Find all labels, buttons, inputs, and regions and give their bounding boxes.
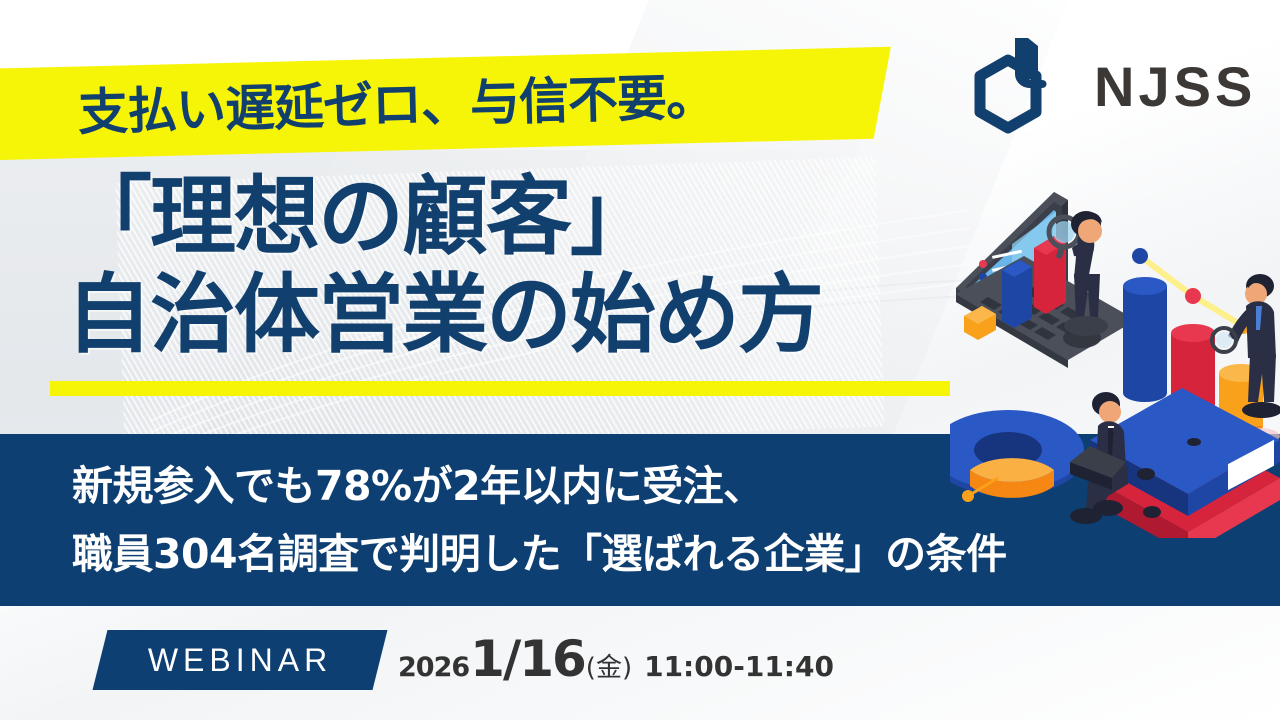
headline-underline-bar (50, 381, 950, 396)
subhead: 新規参入でも78%が2年以内に受注、 職員304名調査で判明した「選ばれる企業」… (72, 452, 1007, 588)
event-day: 1/16 (470, 630, 585, 688)
event-datetime: 2026 1/16 (金) 11:00-11:40 (398, 630, 834, 690)
subhead-line-1: 新規参入でも78%が2年以内に受注、 (72, 452, 1007, 520)
event-year: 2026 (398, 652, 469, 683)
webinar-badge-label: WEBINAR (100, 630, 380, 690)
subhead-line-2: 職員304名調査で判明した「選ばれる企業」の条件 (72, 520, 1007, 588)
njss-logo: NJSS (968, 30, 1256, 142)
eyebrow-text: 支払い遅延ゼロ、与信不要。 (77, 58, 716, 152)
headline-line-1: 「理想の顧客」 (66, 168, 822, 266)
headline: 「理想の顧客」 自治体営業の始め方 (66, 168, 822, 364)
event-time: 11:00-11:40 (644, 650, 834, 683)
njss-hexagon-search-mark (968, 30, 1076, 142)
njss-wordmark: NJSS (1094, 54, 1256, 119)
webinar-banner: 支払い遅延ゼロ、与信不要。 「理想の顧客」 自治体営業の始め方 新規参入でも78… (0, 0, 1280, 720)
headline-line-2: 自治体営業の始め方 (66, 266, 822, 364)
person-seated-with-laptop (1070, 392, 1128, 524)
event-weekday: (金) (586, 647, 632, 684)
